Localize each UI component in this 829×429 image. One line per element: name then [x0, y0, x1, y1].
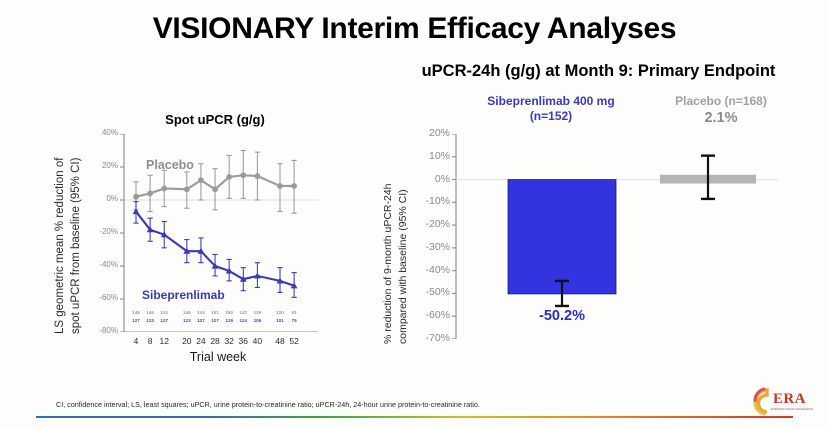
n-count-sibeprenlimab: 124	[239, 318, 247, 323]
legend-placebo: Placebo (n=168)	[636, 94, 806, 109]
era-logo-subtext: EUROPEAN RENAL ASSOCIATION	[771, 408, 813, 411]
n-count-placebo: 150	[225, 310, 233, 315]
right-y-tick-label: -50%	[404, 286, 450, 298]
right-y-axis-label-line1: % reduction of 9-month uPCR-24h	[382, 184, 394, 345]
page-title: VISIONARY Interim Efficacy Analyses	[0, 12, 829, 46]
left-sibeprenlimab-annotation: Sibeprenlimab	[142, 288, 225, 302]
left-plot-area: 40%20%0%-20%-40%-60%-80% 481220242832364…	[118, 134, 318, 332]
right-y-tick-marks	[452, 134, 456, 339]
right-y-tick-label: -70%	[404, 332, 450, 344]
n-count-placebo: 139	[254, 310, 262, 315]
bar-sibeprenlimab	[508, 180, 616, 294]
right-y-tick-label: 0%	[404, 173, 450, 185]
slide-root: VISIONARY Interim Efficacy Analyses Spot…	[0, 0, 829, 429]
left-x-axis-label: Trial week	[118, 350, 318, 364]
right-y-tick-label: 10%	[404, 150, 450, 162]
footnote: CI, confidence interval; LS, least squar…	[56, 400, 480, 409]
sibeprenlimab-value-label: -50.2%	[482, 308, 642, 324]
n-count-sibeprenlimab: 123	[183, 318, 191, 323]
series-sibeprenlimab	[133, 202, 298, 298]
left-x-tick-label: 12	[154, 336, 174, 346]
left-chart-title: Spot uPCR (g/g)	[100, 112, 330, 127]
n-count-placebo: 151	[211, 310, 219, 315]
n-count-placebo: 146	[132, 310, 140, 315]
left-y-tick-label: -40%	[78, 260, 118, 269]
n-count-placebo: 146	[146, 310, 154, 315]
right-plot-area: 20%10%0%-10%-20%-30%-40%-50%-60%-70% -50…	[448, 134, 778, 339]
upcr-24h-chart: uPCR-24h (g/g) at Month 9: Primary Endpo…	[378, 86, 829, 366]
left-y-axis-label-line1: LS geometric mean % reduction of	[54, 158, 66, 334]
n-count-placebo: 91	[292, 310, 297, 315]
left-y-tick-label: -80%	[78, 326, 118, 335]
era-logo-text: ERA	[773, 391, 806, 408]
right-y-tick-label: -10%	[404, 195, 450, 207]
n-count-placebo: 144	[197, 310, 205, 315]
right-chart-title: uPCR-24h (g/g) at Month 9: Primary Endpo…	[368, 62, 829, 81]
n-count-placebo: 146	[183, 310, 191, 315]
divider-rule	[36, 416, 793, 418]
n-count-sibeprenlimab: 126	[225, 318, 233, 323]
left-y-tick-label: 20%	[78, 161, 118, 170]
left-y-tick-marks	[120, 134, 124, 332]
left-y-tick-label: 40%	[78, 128, 118, 137]
left-data-series	[133, 151, 298, 298]
era-logo: ERA EUROPEAN RENAL ASSOCIATION	[751, 386, 815, 420]
left-y-axis-label-line2: spot uPCR from baseline (95% CI)	[70, 158, 82, 334]
legend-sibe-line1: Sibeprenlimab 400 mg	[456, 94, 646, 109]
right-y-tick-label: -20%	[404, 218, 450, 230]
n-count-placebo: 142	[239, 310, 247, 315]
left-y-tick-label: -20%	[78, 227, 118, 236]
legend-sibe-line2: (n=152)	[456, 109, 646, 124]
left-placebo-annotation: Placebo	[146, 158, 194, 172]
n-count-placebo: 120	[276, 310, 284, 315]
n-count-placebo: 101	[160, 310, 168, 315]
n-count-sibeprenlimab: 123	[146, 318, 154, 323]
left-y-tick-label: -60%	[78, 293, 118, 302]
n-count-sibeprenlimab: 127	[132, 318, 140, 323]
left-y-tick-label: 0%	[78, 194, 118, 203]
right-y-tick-label: 20%	[404, 127, 450, 139]
right-y-tick-label: -30%	[404, 241, 450, 253]
left-x-tick-label: 40	[247, 336, 267, 346]
n-count-sibeprenlimab: 127	[211, 318, 219, 323]
placebo-value-label: 2.1%	[636, 110, 806, 126]
right-bars	[508, 156, 756, 306]
spot-upcr-chart: Spot uPCR (g/g) LS geometric mean % redu…	[40, 112, 340, 362]
n-count-sibeprenlimab: 127	[160, 318, 168, 323]
right-y-tick-label: -60%	[404, 309, 450, 321]
right-y-tick-label: -40%	[404, 264, 450, 276]
left-x-tick-label: 52	[284, 336, 304, 346]
n-count-sibeprenlimab: 127	[197, 318, 205, 323]
n-count-sibeprenlimab: 106	[254, 318, 262, 323]
n-count-sibeprenlimab: 75	[292, 318, 297, 323]
n-count-sibeprenlimab: 101	[276, 318, 284, 323]
legend-sibeprenlimab: Sibeprenlimab 400 mg (n=152)	[456, 94, 646, 124]
